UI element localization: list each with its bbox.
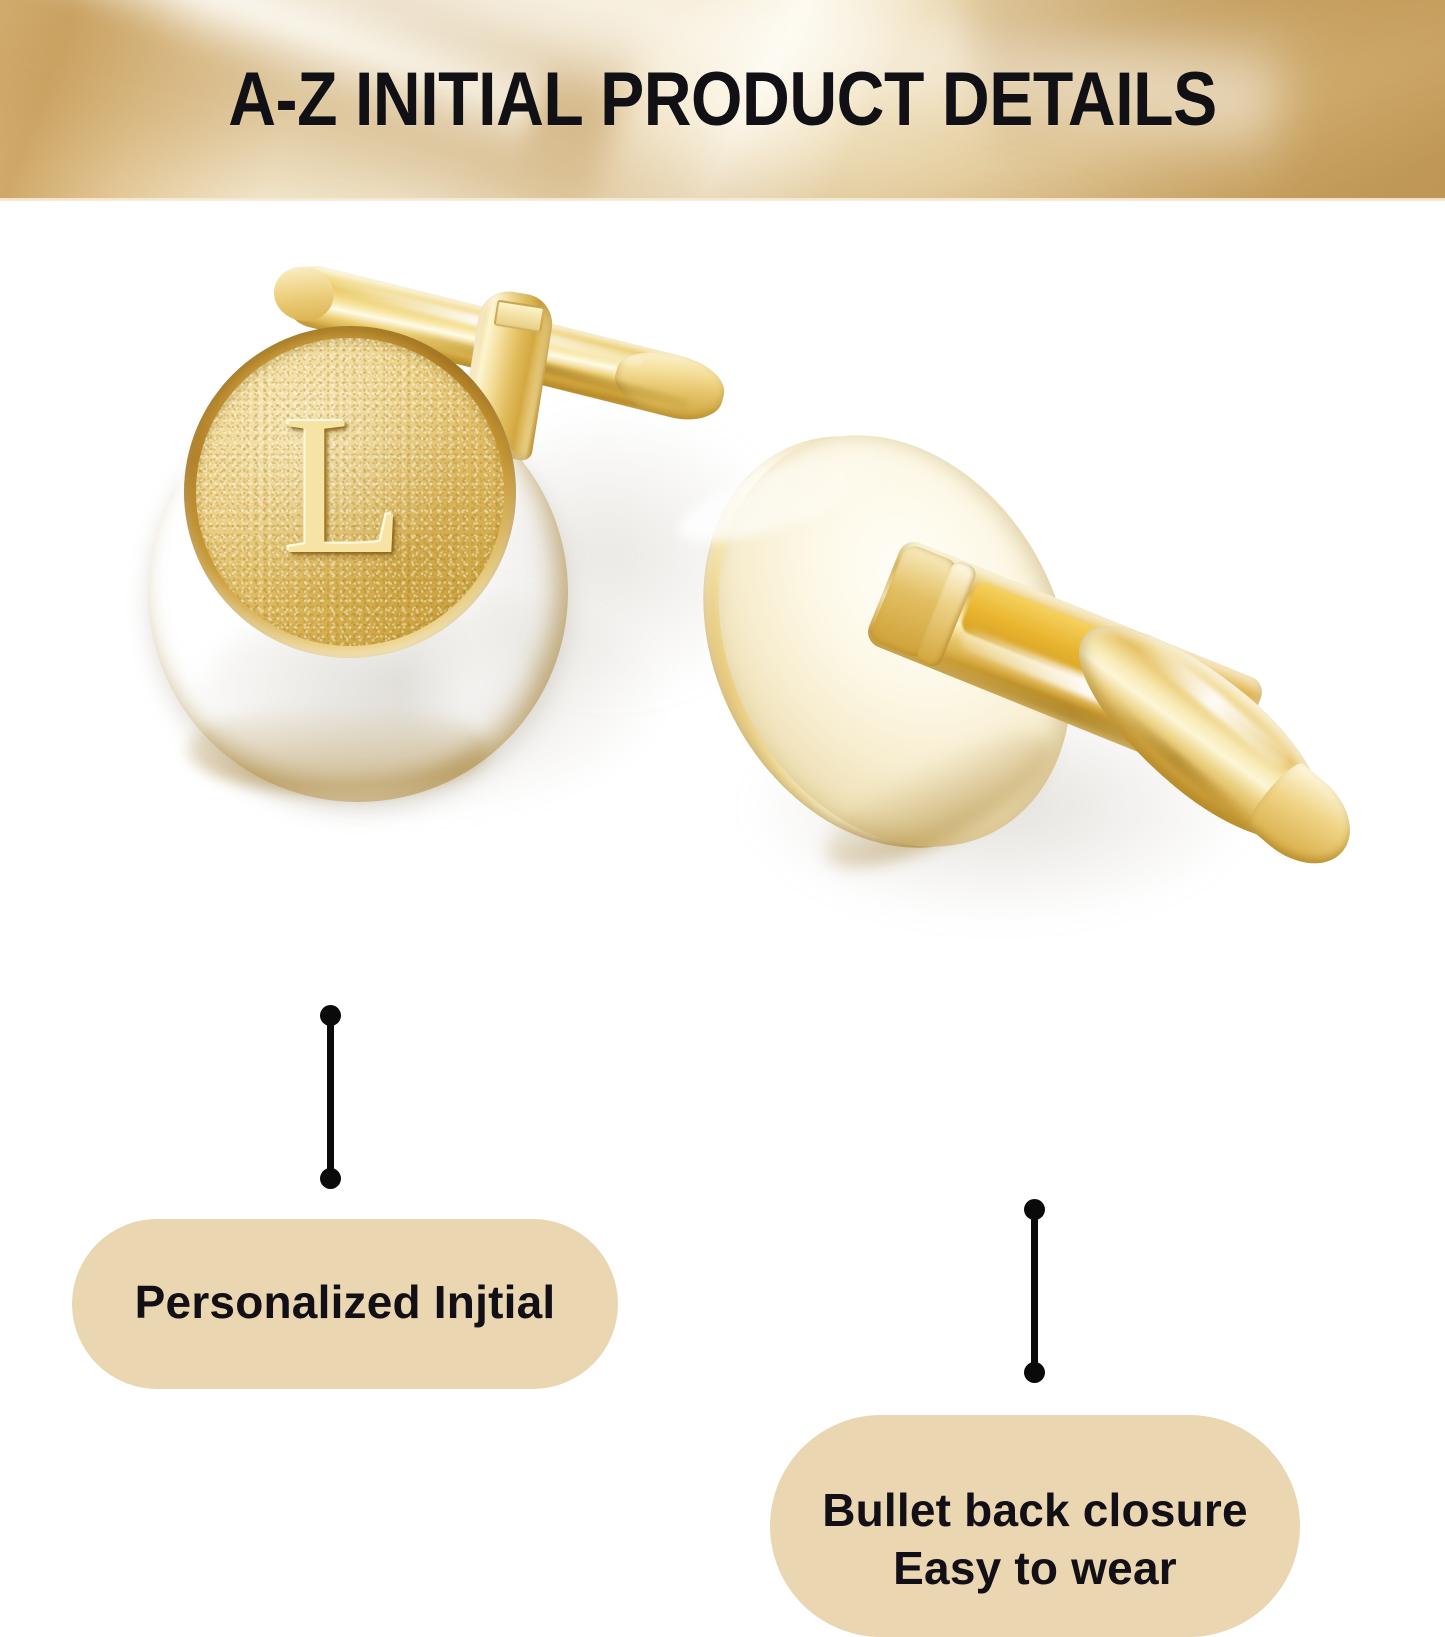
callout-personalized-initial: Personalized Injtial	[72, 1219, 618, 1389]
header-banner: A-Z INITIAL PRODUCT DETAILS	[0, 0, 1445, 201]
initial-letter: L	[283, 386, 405, 586]
cufflink-front-view: L	[140, 286, 740, 846]
product-photo-stage: L	[0, 201, 1445, 1395]
callout-text-line2: Easy to wear	[893, 1539, 1177, 1597]
leader-dot-bottom	[320, 1168, 341, 1189]
ring-shade	[188, 704, 488, 794]
callout-text: Personalized Injtial	[135, 1276, 556, 1328]
leader-dot-top	[320, 1005, 341, 1026]
leader-dot-top	[1024, 1199, 1045, 1220]
engraved-initial: L	[196, 338, 504, 646]
cufflink-back-view	[720, 416, 1360, 1036]
leader-stem	[327, 1014, 334, 1180]
callout-bullet-back-closure: Bullet back closure Easy to wear	[770, 1415, 1300, 1637]
leader-stem	[1031, 1208, 1038, 1374]
post-notch	[494, 300, 545, 333]
leader-line-personalized-initial	[320, 1014, 341, 1180]
leader-dot-bottom	[1024, 1362, 1045, 1383]
page-title: A-Z INITIAL PRODUCT DETAILS	[94, 57, 1351, 143]
leader-line-bullet-closure	[1024, 1208, 1045, 1374]
callout-text-line1: Bullet back closure	[822, 1481, 1248, 1539]
